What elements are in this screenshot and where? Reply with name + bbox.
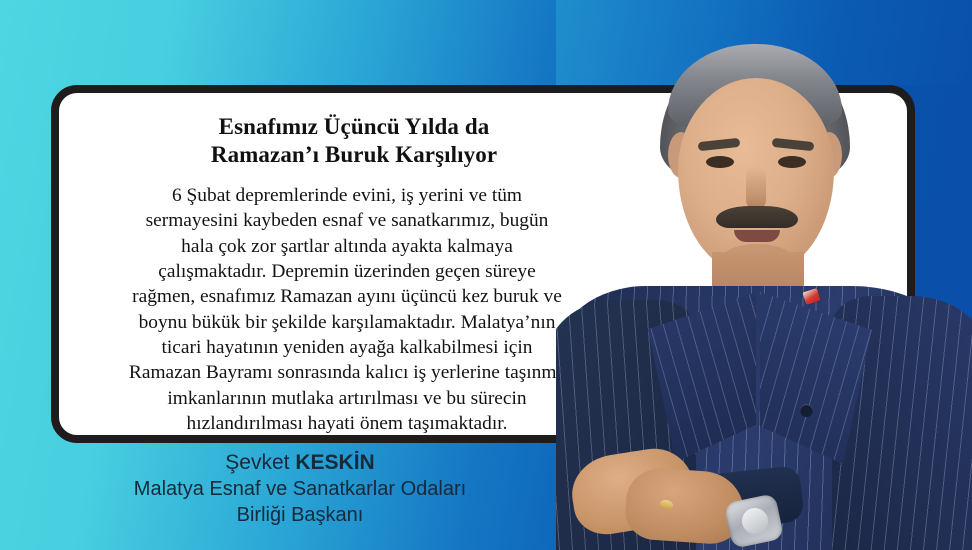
headline: Esnafımız Üçüncü Yılda da Ramazan’ı Buru… <box>59 107 619 169</box>
headline-line-1: Esnafımız Üçüncü Yılda da <box>115 113 593 141</box>
body-line: hala çok zor şartlar altında ayakta kalm… <box>93 234 601 259</box>
person-name: Şevket KESKİN <box>0 449 600 476</box>
person-role-line-2: Birliği Başkanı <box>0 502 600 528</box>
body-line: Ramazan Bayramı sonrasında kalıcı iş yer… <box>93 360 601 385</box>
body-line: imkanlarının mutlaka artırılması ve bu s… <box>93 386 601 411</box>
body-line: boynu bükük bir şekilde karşılamaktadır.… <box>93 310 601 335</box>
body-line: 6 Şubat depremlerinde evini, iş yerini v… <box>93 183 601 208</box>
suit-button <box>800 404 813 417</box>
eye-left <box>706 156 734 168</box>
person-last-name: KESKİN <box>295 451 374 474</box>
person-role: Malatya Esnaf ve Sanatkarlar Odaları Bir… <box>0 476 600 528</box>
headline-line-2: Ramazan’ı Buruk Karşılıyor <box>115 141 593 169</box>
poster-canvas: Esnafımız Üçüncü Yılda da Ramazan’ı Buru… <box>0 0 972 550</box>
nose <box>746 166 766 210</box>
body-copy: 6 Şubat depremlerinde evini, iş yerini v… <box>59 169 619 436</box>
mustache <box>716 206 798 228</box>
eye-right <box>778 156 806 168</box>
person-role-line-1: Malatya Esnaf ve Sanatkarlar Odaları <box>0 476 600 502</box>
body-line: rağmen, esnafımız Ramazan ayını üçüncü k… <box>93 284 601 309</box>
body-line: ticari hayatının yeniden ayağa kalkabilm… <box>93 335 601 360</box>
body-line: çalışmaktadır. Depremin üzerinden geçen … <box>93 259 601 284</box>
mouth <box>734 230 780 242</box>
body-line: sermayesini kaybeden esnaf ve sanatkarım… <box>93 208 601 233</box>
quote-card-text-column: Esnafımız Üçüncü Yılda da Ramazan’ı Buru… <box>59 93 619 435</box>
person-first-name: Şevket <box>225 451 295 474</box>
body-line: hızlandırılması hayati önem taşımaktadır… <box>93 411 601 436</box>
portrait-photo <box>556 0 972 550</box>
caption-block: Şevket KESKİN Malatya Esnaf ve Sanatkarl… <box>0 449 600 528</box>
